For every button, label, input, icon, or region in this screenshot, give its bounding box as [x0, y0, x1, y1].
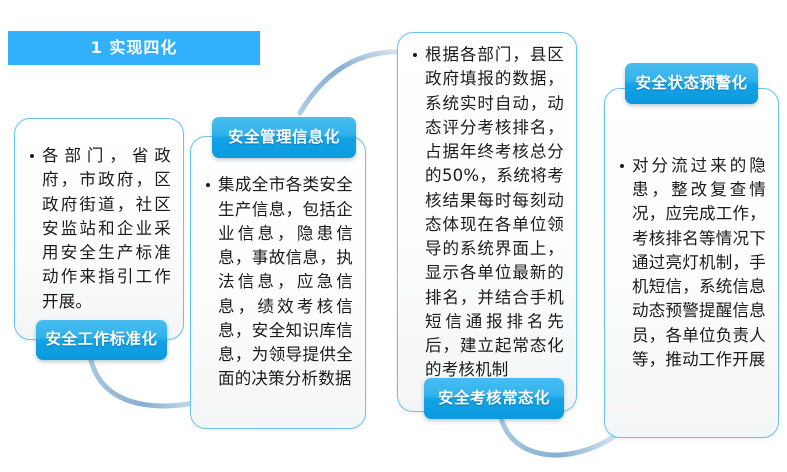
section-title-text: 1 实现四化: [91, 40, 178, 56]
tag-safety-status-early-warning[interactable]: 安全状态预警化: [625, 63, 758, 104]
card-body: 集成全市各类安全生产信息，包括企业信息，隐患信息，事故信息，执法信息，应急信息，…: [191, 137, 365, 428]
tag-safety-assessment-normalization[interactable]: 安全考核常态化: [424, 378, 564, 419]
card-text: 各部门，省政府，市政府，区政府街道，社区安监站和企业采用安全生产标准动作来指引工…: [29, 144, 171, 314]
card-safety-assessment-normalization[interactable]: 根据各部门，县区政府填报的数据，系统实时自动，动态评分考核排名，占据年终考核总分…: [397, 32, 577, 412]
card-text: 对分流过来的隐患，整改复查情况，应完成工作，考核排名等情况下通过亮灯机制，手机短…: [619, 154, 766, 372]
section-title-banner: 1 实现四化: [8, 31, 260, 65]
card-safety-status-early-warning[interactable]: 对分流过来的隐患，整改复查情况，应完成工作，考核排名等情况下通过亮灯机制，手机短…: [604, 88, 779, 438]
card-text: 根据各部门，县区政府填报的数据，系统实时自动，动态评分考核排名，占据年终考核总分…: [412, 43, 564, 383]
card-safety-work-standardization[interactable]: 各部门，省政府，市政府，区政府街道，社区安监站和企业采用安全生产标准动作来指引工…: [14, 118, 184, 340]
connector-1-to-2: [90, 356, 200, 406]
tag-label: 安全状态预警化: [635, 76, 747, 92]
tag-safety-work-standardization[interactable]: 安全工作标准化: [36, 320, 167, 360]
card-body: 对分流过来的隐患，整改复查情况，应完成工作，考核排名等情况下通过亮灯机制，手机短…: [605, 89, 778, 437]
connector-2-to-3: [300, 52, 404, 113]
card-text: 集成全市各类安全生产信息，包括企业信息，隐患信息，事故信息，执法信息，应急信息，…: [205, 173, 353, 391]
card-body: 各部门，省政府，市政府，区政府街道，社区安监站和企业采用安全生产标准动作来指引工…: [15, 119, 183, 339]
tag-label: 安全考核常态化: [438, 391, 550, 407]
tag-label: 安全工作标准化: [45, 332, 157, 348]
card-safety-management-informatization[interactable]: 集成全市各类安全生产信息，包括企业信息，隐患信息，事故信息，执法信息，应急信息，…: [190, 136, 366, 429]
card-body: 根据各部门，县区政府填报的数据，系统实时自动，动态评分考核排名，占据年终考核总分…: [398, 33, 576, 411]
diagram-canvas: 1 实现四化 各部门，省政府，市政府，区政府街道，社区安监站和企业采用安全生产标…: [0, 0, 787, 472]
connector-3-to-4: [500, 414, 615, 455]
tag-safety-management-informatization[interactable]: 安全管理信息化: [212, 117, 356, 158]
tag-label: 安全管理信息化: [228, 130, 340, 146]
